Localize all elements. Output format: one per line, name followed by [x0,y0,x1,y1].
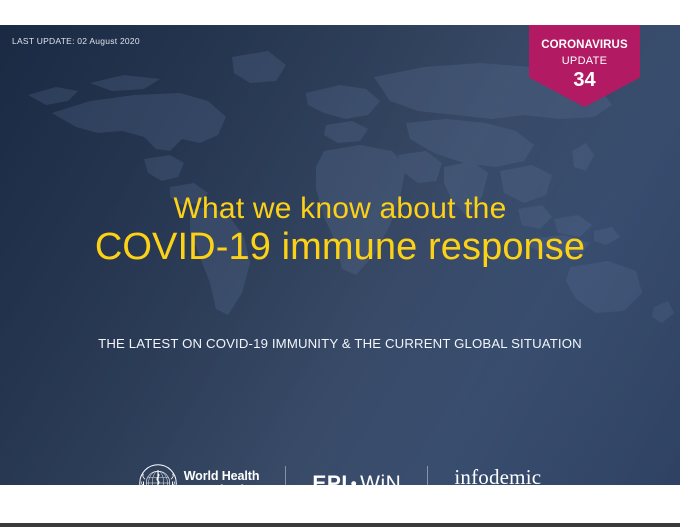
slide-viewer: LAST UPDATE: 02 August 2020 CORONAVIRUS … [0,0,680,527]
epiwin-win-text: WiN [360,473,401,486]
infodemic-management-logo: infodemic MANAGEMENT [454,467,541,485]
headline-line-2: COVID-19 immune response [0,227,680,269]
logo-bar: World Health Organization EPI • WiN info… [0,457,680,485]
badge-subtitle: UPDATE [529,56,640,67]
who-wordmark: World Health Organization [184,469,260,485]
viewer-bottom-rule [0,523,680,527]
logo-divider-1 [285,466,286,485]
epiwin-separator-dot-icon: • [351,475,357,486]
infodemic-wordmark: infodemic [454,467,541,485]
page-margin-top [0,0,680,25]
epiwin-logo-slot: EPI • WiN [312,473,401,486]
infodemic-logo-slot: infodemic MANAGEMENT [454,467,541,485]
page-margin-bottom [0,485,680,523]
who-logo: World Health Organization [139,464,260,485]
presentation-slide: LAST UPDATE: 02 August 2020 CORONAVIRUS … [0,25,680,485]
epiwin-logo: EPI • WiN [312,473,401,486]
headline-line-1: What we know about the [0,193,680,225]
logo-divider-2 [427,466,428,485]
badge-issue-number: 34 [529,70,640,90]
last-update-label: LAST UPDATE: 02 August 2020 [12,36,140,46]
who-wordmark-line-1: World Health [184,469,260,483]
badge-title: CORONAVIRUS [529,40,640,52]
who-logo-slot: World Health Organization [139,464,260,485]
slide-subtitle: THE LATEST ON COVID-19 IMMUNITY & THE CU… [0,336,680,351]
epiwin-epi-text: EPI [312,473,347,486]
coronavirus-update-badge: CORONAVIRUS UPDATE 34 [529,25,640,107]
slide-headline: What we know about the COVID-19 immune r… [0,193,680,269]
who-emblem-icon [139,464,177,485]
